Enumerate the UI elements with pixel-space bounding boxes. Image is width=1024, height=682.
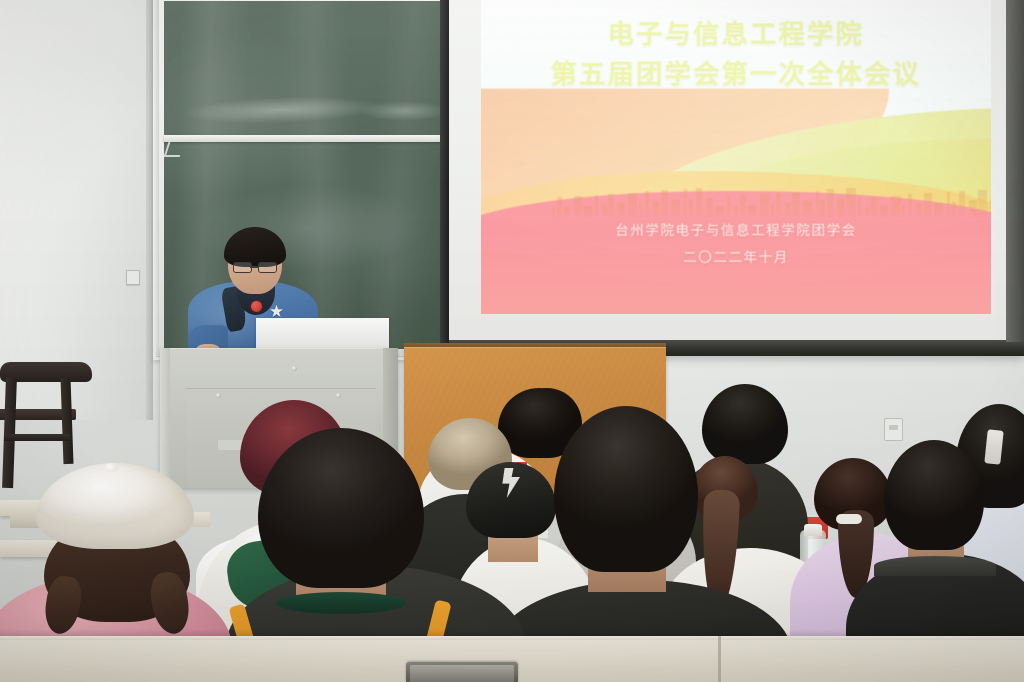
- skyline-building: [645, 191, 650, 216]
- skyline-building: [602, 205, 607, 217]
- skyline-building: [771, 204, 774, 217]
- skyline-building: [846, 188, 855, 217]
- skyline-building: [734, 206, 739, 217]
- skyline-building: [653, 201, 659, 217]
- student-collar: [874, 556, 996, 576]
- lectern-monitor: [256, 318, 389, 348]
- skyline-building: [595, 195, 598, 217]
- skyline-building: [902, 205, 905, 217]
- skyline-building: [891, 196, 900, 217]
- blackboard-right-edge: [440, 0, 449, 356]
- skyline-building: [837, 199, 845, 217]
- foreground-desk-seam: [718, 636, 721, 682]
- skyline-building: [628, 193, 637, 217]
- skyline-building: [792, 192, 800, 217]
- slide-title-line-1: 电子与信息工程学院: [481, 16, 991, 56]
- hair-tie-icon: [836, 514, 862, 524]
- skyline-building: [617, 203, 625, 216]
- classroom-meeting-photo: 电子与信息工程学院 第五届团学会第一次全体会议 台州学院电子与信息工程学院团学会…: [0, 0, 1024, 682]
- skyline-building: [706, 198, 714, 217]
- blackboard-left-edge: [153, 0, 159, 356]
- skyline-building: [947, 192, 950, 217]
- skyline-building: [671, 200, 680, 217]
- skyline-building: [978, 190, 987, 217]
- slide-subtitle: 台州学院电子与信息工程学院团学会 二〇二二年十月: [481, 218, 991, 272]
- skyline-building: [803, 201, 812, 216]
- skyline-building: [858, 198, 861, 217]
- foreground-desk-lip: [0, 636, 1024, 640]
- skyline-building: [689, 199, 694, 217]
- skyline-building: [934, 203, 943, 217]
- beret-knob: [104, 463, 118, 472]
- skyline-building: [880, 206, 888, 216]
- panel-screw: [216, 393, 221, 398]
- glasses-bridge: [250, 266, 259, 268]
- skyline-building: [583, 206, 592, 217]
- skyline-building: [959, 191, 965, 217]
- left-wall-edge: [146, 0, 153, 420]
- skyline-building: [639, 202, 642, 217]
- skyline-building: [748, 205, 756, 217]
- student-head: [554, 406, 698, 572]
- skyline-building: [827, 189, 833, 216]
- skyline-building: [908, 194, 913, 216]
- skyline-building: [740, 195, 746, 217]
- skyline-building: [608, 194, 614, 217]
- wall-outlet[interactable]: [884, 418, 903, 441]
- left-wall-panel: [0, 0, 152, 420]
- skyline-building: [969, 200, 977, 216]
- chalk-smear: [359, 101, 449, 121]
- skyline-building: [924, 193, 932, 217]
- skyline-building: [760, 194, 769, 217]
- skyline-building: [916, 204, 922, 217]
- wall-switch[interactable]: [126, 270, 140, 285]
- bottle-cap-icon: [804, 524, 822, 536]
- skyline-building: [785, 203, 791, 217]
- lectern-left-edge: [160, 348, 170, 488]
- slide-title: 电子与信息工程学院 第五届团学会第一次全体会议: [481, 16, 991, 95]
- mobile-phone[interactable]: [406, 662, 518, 682]
- lapel-mic-icon: [251, 301, 262, 312]
- presentation-slide: 电子与信息工程学院 第五届团学会第一次全体会议 台州学院电子与信息工程学院团学会…: [481, 0, 991, 314]
- skyline-building: [871, 197, 877, 217]
- skyline-building: [696, 188, 702, 217]
- skyline-building: [727, 196, 730, 216]
- slide-subtitle-line-1: 台州学院电子与信息工程学院团学会: [481, 218, 991, 245]
- skyline-building: [684, 189, 687, 217]
- slide-title-line-2: 第五届团学会第一次全体会议: [481, 56, 991, 96]
- skyline-building: [816, 191, 819, 217]
- panel-screw: [336, 393, 341, 398]
- skyline-building: [776, 193, 781, 217]
- skyline-building: [564, 207, 570, 217]
- skyline-building: [865, 207, 870, 216]
- slide-skyline-silhouette: [552, 188, 991, 217]
- shirt-neckband: [276, 592, 406, 614]
- skyline-building: [820, 200, 825, 217]
- projector-screen-right-edge: [1006, 0, 1024, 342]
- skyline-building: [952, 202, 957, 217]
- skyline-building: [990, 199, 991, 216]
- skyline-building: [552, 208, 555, 217]
- blackboard-slider-rail[interactable]: [164, 135, 448, 142]
- skyline-building: [661, 190, 669, 217]
- skyline-building: [557, 197, 562, 217]
- stool-rung: [4, 434, 70, 441]
- panel-screw: [292, 366, 297, 371]
- skyline-building: [574, 196, 582, 217]
- skyline-building: [715, 207, 724, 217]
- slide-subtitle-line-2: 二〇二二年十月: [481, 245, 991, 272]
